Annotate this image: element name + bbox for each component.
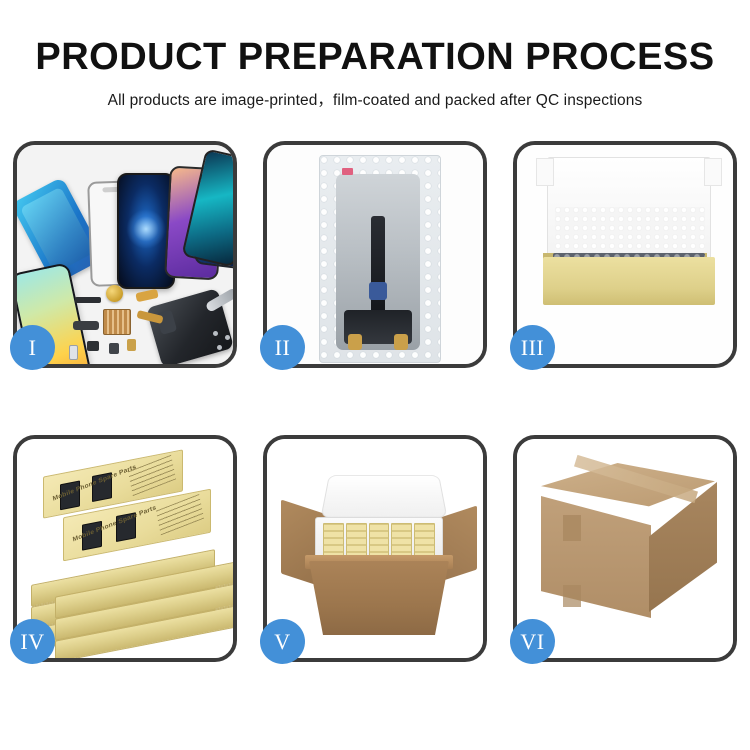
bubble-wrap-bag <box>319 155 441 363</box>
lcd-connector-tab <box>369 282 387 300</box>
sim-tray-part <box>69 345 78 360</box>
gold-boxes-inside <box>323 523 435 559</box>
carton-handle-cut-lower <box>563 585 581 607</box>
page-subtitle: All products are image-printed，film-coat… <box>0 88 750 110</box>
step-5-image <box>267 439 483 658</box>
step-badge-5: V <box>260 619 305 664</box>
screw-2 <box>225 335 230 340</box>
sealed-shipping-carton <box>533 463 725 631</box>
gold-box-column-2 <box>346 523 367 559</box>
box-text-lines <box>156 494 204 535</box>
gold-box-column-4 <box>391 523 412 559</box>
carton-handle-cut-upper <box>563 515 581 541</box>
step-badge-2: II <box>260 325 305 370</box>
lcd-screen-assembly <box>336 174 420 350</box>
chip-component <box>103 309 131 335</box>
step-6-image <box>517 439 733 658</box>
process-step-6[interactable]: VI <box>513 435 737 662</box>
gold-box-column-5 <box>414 523 435 559</box>
product-preparation-page: PRODUCT PREPARATION PROCESS All products… <box>0 0 750 750</box>
open-shipping-carton <box>281 465 477 635</box>
charging-coil-part <box>106 285 123 302</box>
flex-cable-part-c <box>73 321 99 330</box>
gold-box-column-3 <box>369 523 390 559</box>
small-component-2 <box>109 343 119 354</box>
screw-3 <box>213 331 218 336</box>
gold-box-column-1 <box>323 523 344 559</box>
page-title: PRODUCT PREPARATION PROCESS <box>0 36 750 79</box>
small-component-1 <box>87 341 99 351</box>
carton-front-face <box>541 496 651 618</box>
step-badge-1: I <box>10 325 55 370</box>
box-text-lines-2 <box>128 455 176 496</box>
header: PRODUCT PREPARATION PROCESS All products… <box>0 0 750 110</box>
process-step-2[interactable]: II <box>263 141 487 368</box>
lcd-lower-bracket <box>344 310 412 344</box>
pink-label-sticker <box>342 168 353 175</box>
gold-box-stack: Mobile Phone Spare Parts Mobile Phone Sp… <box>25 461 233 647</box>
step-1-image <box>17 145 233 364</box>
step-2-image <box>267 145 483 364</box>
process-step-1[interactable]: I <box>13 141 237 368</box>
small-component-3 <box>127 339 136 351</box>
foam-sheet <box>555 207 705 259</box>
process-step-3[interactable]: III <box>513 141 737 368</box>
step-badge-3: III <box>510 325 555 370</box>
foam-box-lid <box>321 475 448 518</box>
step-4-image: Mobile Phone Spare Parts Mobile Phone Sp… <box>17 439 233 658</box>
process-step-4[interactable]: Mobile Phone Spare Parts Mobile Phone Sp… <box>13 435 237 662</box>
step-badge-4: IV <box>10 619 55 664</box>
process-step-grid: I II <box>13 141 737 683</box>
process-step-5[interactable]: V <box>263 435 487 662</box>
screw-1 <box>217 345 222 350</box>
speaker-part <box>75 297 101 303</box>
carton-body <box>309 561 449 635</box>
phone-parts-scene <box>17 145 233 364</box>
flex-cable-part-a <box>135 289 158 302</box>
step-badge-6: VI <box>510 619 555 664</box>
step-3-image <box>517 145 733 364</box>
gold-box-base <box>543 257 715 305</box>
